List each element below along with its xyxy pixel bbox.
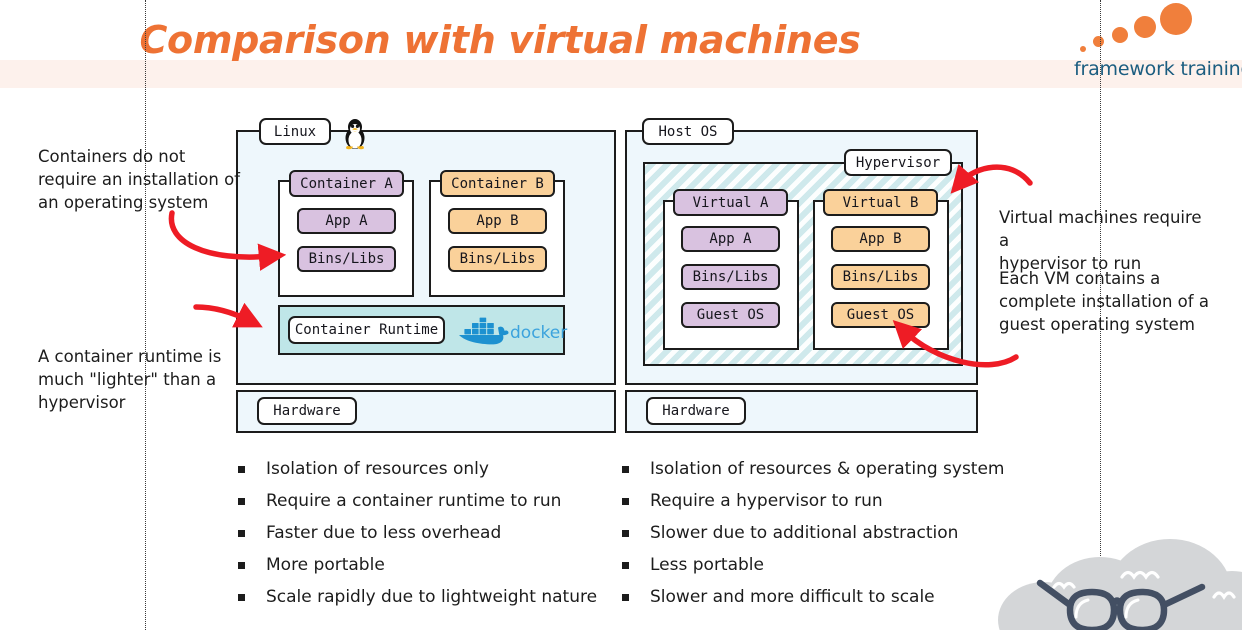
linux-penguin-icon — [339, 116, 371, 150]
virtual-b-layer-guestos: Guest OS — [831, 302, 930, 328]
annotation-right-bottom: Each VM contains a complete installation… — [999, 267, 1214, 336]
list-item: Less portable — [622, 554, 1022, 576]
list-item: Scale rapidly due to lightweight nature — [238, 586, 608, 608]
bullet-square-icon — [238, 530, 245, 537]
virtual-a-layer-guestos: Guest OS — [681, 302, 780, 328]
list-item-label: Scale rapidly due to lightweight nature — [266, 586, 597, 608]
bullet-square-icon — [622, 498, 629, 505]
virtual-a-layer-app: App A — [681, 226, 780, 252]
container-a-layer-bins: Bins/Libs — [297, 246, 396, 272]
linux-os-label: Linux — [259, 118, 331, 145]
logo-dot-1 — [1080, 46, 1086, 52]
list-item-label: Faster due to less overhead — [266, 522, 501, 544]
list-item: Require a container runtime to run — [238, 490, 608, 512]
virtual-a-layer-bins: Bins/Libs — [681, 264, 780, 290]
bullet-square-icon — [238, 498, 245, 505]
list-item: Slower due to additional abstraction — [622, 522, 1022, 544]
containers-diagram: Linux Container A App A Bins/Libs Contai… — [236, 118, 616, 433]
glasses-and-clouds-illustration — [992, 525, 1242, 630]
container-a-title: Container A — [289, 170, 404, 197]
container-a-layer-app: App A — [297, 208, 396, 234]
list-item-label: Require a container runtime to run — [266, 490, 561, 512]
virtual-b-layer-bins: Bins/Libs — [831, 264, 930, 290]
title-band — [0, 60, 1242, 88]
logo-dot-3 — [1112, 27, 1128, 43]
hardware-label-right: Hardware — [646, 397, 746, 425]
list-item: More portable — [238, 554, 608, 576]
bullet-square-icon — [238, 466, 245, 473]
virtual-b-title: Virtual B — [823, 189, 938, 216]
virtual-b-layer-app: App B — [831, 226, 930, 252]
list-item: Isolation of resources & operating syste… — [622, 458, 1022, 480]
hardware-label-left: Hardware — [257, 397, 357, 425]
list-item-label: Isolation of resources only — [266, 458, 489, 480]
bullets-virtual-machines: Isolation of resources & operating syste… — [622, 458, 1022, 618]
logo-dot-4 — [1134, 16, 1156, 38]
brand-logo: framework training — [1060, 2, 1242, 86]
bullet-square-icon — [238, 562, 245, 569]
list-item-label: More portable — [266, 554, 385, 576]
list-item: Faster due to less overhead — [238, 522, 608, 544]
list-item: Slower and more difficult to scale — [622, 586, 1022, 608]
container-b-layer-bins: Bins/Libs — [448, 246, 547, 272]
svg-text:docker: docker — [510, 323, 567, 343]
host-os-label: Host OS — [642, 118, 734, 145]
container-b-layer-app: App B — [448, 208, 547, 234]
bullet-square-icon — [238, 594, 245, 601]
list-item-label: Require a hypervisor to run — [650, 490, 883, 512]
annotation-left-bottom: A container runtime is much "lighter" th… — [38, 345, 253, 414]
hypervisor-label: Hypervisor — [844, 149, 952, 176]
bullet-square-icon — [622, 466, 629, 473]
docker-logo: docker — [458, 318, 554, 344]
container-runtime-label: Container Runtime — [288, 316, 445, 344]
container-b-frame — [429, 180, 565, 297]
bullet-square-icon — [622, 562, 629, 569]
virtual-a-title: Virtual A — [673, 189, 788, 216]
logo-dot-2 — [1093, 36, 1104, 47]
guide-line-left — [145, 0, 146, 630]
bullets-containers: Isolation of resources only Require a co… — [238, 458, 608, 618]
slide-root: Comparison with virtual machines framewo… — [0, 0, 1242, 630]
annotation-right-top: Virtual machines require a hypervisor to… — [999, 206, 1214, 275]
bullet-square-icon — [622, 530, 629, 537]
container-b-title: Container B — [440, 170, 555, 197]
list-item-label: Slower due to additional abstraction — [650, 522, 958, 544]
list-item: Require a hypervisor to run — [622, 490, 1022, 512]
annotation-left-top: Containers do not require an installatio… — [38, 145, 253, 214]
container-a-frame — [278, 180, 414, 297]
page-title: Comparison with virtual machines — [0, 18, 1000, 62]
list-item-label: Less portable — [650, 554, 764, 576]
list-item: Isolation of resources only — [238, 458, 608, 480]
list-item-label: Slower and more difficult to scale — [650, 586, 935, 608]
logo-dot-5 — [1160, 3, 1192, 35]
virtual-machines-diagram: Host OS Hypervisor Virtual A App A Bins/… — [625, 118, 978, 433]
list-item-label: Isolation of resources & operating syste… — [650, 458, 1005, 480]
bullet-square-icon — [622, 594, 629, 601]
